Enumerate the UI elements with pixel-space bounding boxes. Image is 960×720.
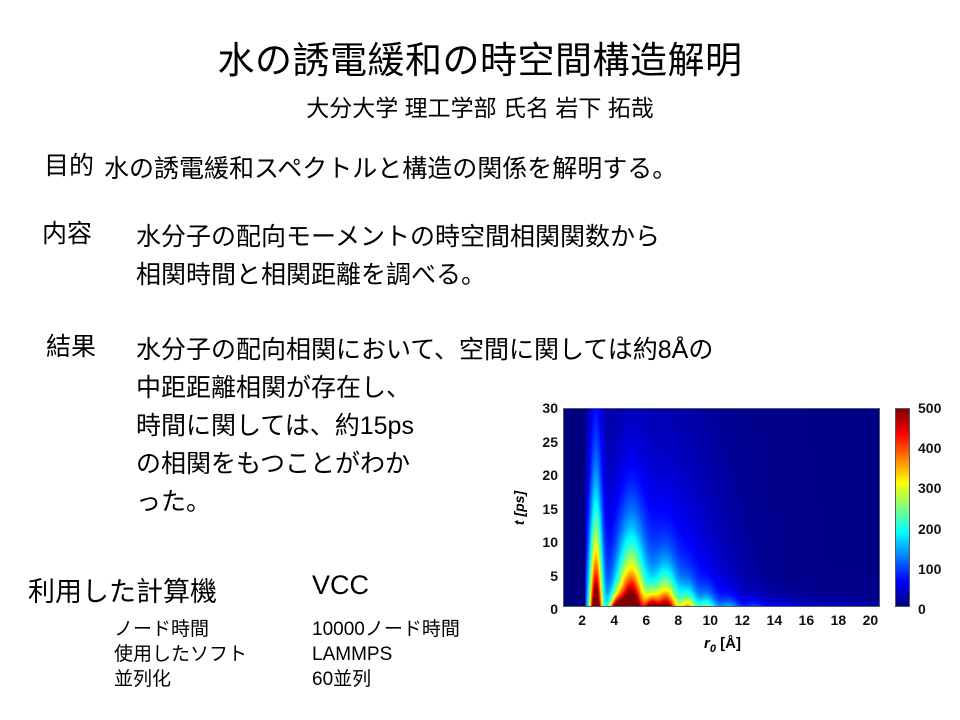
purpose-body: 水の誘電緩和スペクトルと構造の関係を解明する。 [104,150,677,188]
x-tick-label: 6 [642,612,650,628]
table-row: ノード時間 10000ノード時間 [114,617,460,642]
x-tick-label: 14 [767,612,783,628]
x-tick-label: 18 [831,612,847,628]
result-label: 結果 [46,332,96,362]
result-line: 水分子の配向相関において、空間に関しては約8Åの [136,331,713,369]
content-body: 水分子の配向モーメントの時空間相関関数から 相関時間と相関距離を調べる。 [136,218,660,294]
page-title: 水の誘電緩和の時空間構造解明 [0,42,960,81]
colorbar-tick-label: 400 [918,440,941,456]
colorbar-tick-label: 200 [918,521,941,537]
y-tick-label: 5 [550,568,558,584]
x-tick-label: 12 [735,612,751,628]
spec-value: LAMMPS [312,642,392,667]
y-axis-label: t [ps] [511,491,527,525]
table-row: 使用したソフト LAMMPS [114,642,460,667]
colorbar-tick-label: 0 [918,601,926,617]
content-line: 相関時間と相関距離を調べる。 [136,256,660,294]
y-tick-label: 30 [542,400,558,416]
y-tick-label: 25 [542,434,558,450]
table-row: 並列化 60並列 [114,667,460,692]
machine-section-title: 利用した計算機 [28,570,217,609]
heatmap-plot-area [563,408,880,607]
x-tick-label: 16 [799,612,815,628]
purpose-line: 水の誘電緩和スペクトルと構造の関係を解明する。 [104,150,677,188]
x-tick-label: 8 [674,612,682,628]
spec-value: 60並列 [312,667,371,692]
slide-canvas: 水の誘電緩和の時空間構造解明 大分大学 理工学部 氏名 岩下 拓哉 目的 水の誘… [0,0,960,720]
colorbar-tick-label: 100 [918,561,941,577]
colorbar-tick-label: 300 [918,480,941,496]
x-tick-label: 2 [578,612,586,628]
x-axis-ticks: 2468101214161820 [563,612,882,632]
x-tick-label: 10 [702,612,718,628]
y-tick-label: 10 [542,534,558,550]
spec-key: 使用したソフト [114,642,312,667]
colorbar-tick-label: 500 [918,400,941,416]
purpose-label: 目的 [44,151,94,181]
content-label: 内容 [42,219,92,249]
spacetime-correlation-heatmap-figure: 051015202530 t [ps] 2468101214161820 r0 … [520,392,960,677]
x-tick-label: 4 [610,612,618,628]
colorbar-gradient [895,408,910,607]
y-tick-label: 15 [542,501,558,517]
spec-key: 並列化 [114,667,312,692]
machine-spec-table: ノード時間 10000ノード時間 使用したソフト LAMMPS 並列化 60並列 [114,617,460,692]
page-subtitle: 大分大学 理工学部 氏名 岩下 拓哉 [0,96,960,121]
y-tick-label: 0 [550,601,558,617]
x-axis-label: r0 [Å] [563,635,882,655]
y-tick-label: 20 [542,467,558,483]
x-tick-label: 20 [863,612,879,628]
spec-key: ノード時間 [114,617,312,642]
colorbar-ticks: 0100200300400500 [914,400,960,615]
content-line: 水分子の配向モーメントの時空間相関関数から [136,218,660,256]
spec-value: 10000ノード時間 [312,617,460,642]
machine-name-value: VCC [312,570,369,601]
